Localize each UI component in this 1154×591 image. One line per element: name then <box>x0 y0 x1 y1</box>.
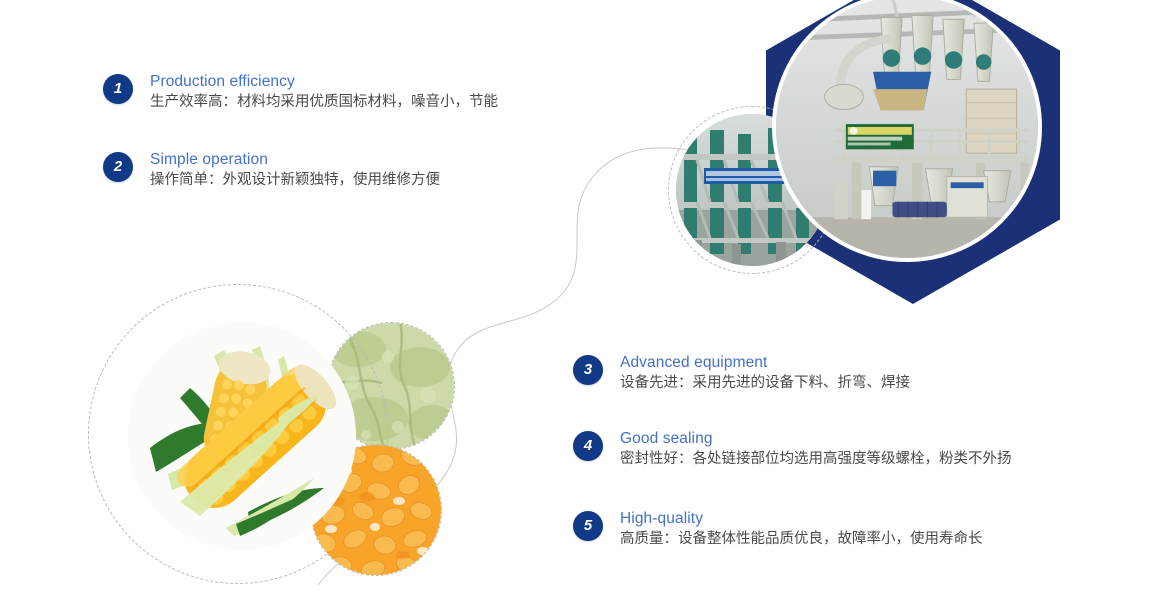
feature-text-3: Advanced equipment 设备先进：采用先进的设备下料、折弯、焊接 <box>620 353 910 394</box>
feature-title-3: Advanced equipment <box>620 353 910 372</box>
feature-text-5: High-quality 高质量：设备整体性能品质优良，故障率小，使用寿命长 <box>620 509 983 550</box>
feature-description-1: 生产效率高：材料均采用优质国标材料，噪音小，节能 <box>150 92 498 113</box>
feature-title-1: Production efficiency <box>150 72 498 91</box>
feature-description-2: 操作简单：外观设计新颖独特，使用维修方便 <box>150 170 440 191</box>
feature-description-3: 设备先进：采用先进的设备下料、折弯、焊接 <box>620 373 910 394</box>
feature-text-4: Good sealing 密封性好：各处链接部位均选用高强度等级螺栓，粉类不外扬 <box>620 429 1012 470</box>
feature-text-1: Production efficiency 生产效率高：材料均采用优质国标材料，… <box>150 72 498 113</box>
feature-title-2: Simple operation <box>150 150 440 169</box>
feature-title-4: Good sealing <box>620 429 1012 448</box>
corn-photo <box>128 322 356 550</box>
main-photo-milling-plant <box>772 0 1042 262</box>
feature-description-5: 高质量：设备整体性能品质优良，故障率小，使用寿命长 <box>620 529 983 550</box>
feature-title-5: High-quality <box>620 509 983 528</box>
feature-badge-3: 3 <box>573 355 603 385</box>
feature-text-2: Simple operation 操作简单：外观设计新颖独特，使用维修方便 <box>150 150 440 191</box>
feature-badge-5: 5 <box>573 511 603 541</box>
feature-badge-2: 2 <box>103 152 133 182</box>
feature-badge-1: 1 <box>103 74 133 104</box>
feature-infographic: 1 Production efficiency 生产效率高：材料均采用优质国标材… <box>0 0 1154 591</box>
feature-description-4: 密封性好：各处链接部位均选用高强度等级螺栓，粉类不外扬 <box>620 449 1012 470</box>
feature-item-3[interactable]: 3 Advanced equipment 设备先进：采用先进的设备下料、折弯、焊… <box>573 353 910 394</box>
feature-badge-4: 4 <box>573 431 603 461</box>
feature-item-5[interactable]: 5 High-quality 高质量：设备整体性能品质优良，故障率小，使用寿命长 <box>573 509 983 550</box>
feature-item-1[interactable]: 1 Production efficiency 生产效率高：材料均采用优质国标材… <box>103 72 498 113</box>
feature-item-2[interactable]: 2 Simple operation 操作简单：外观设计新颖独特，使用维修方便 <box>103 150 440 191</box>
feature-item-4[interactable]: 4 Good sealing 密封性好：各处链接部位均选用高强度等级螺栓，粉类不… <box>573 429 1012 470</box>
